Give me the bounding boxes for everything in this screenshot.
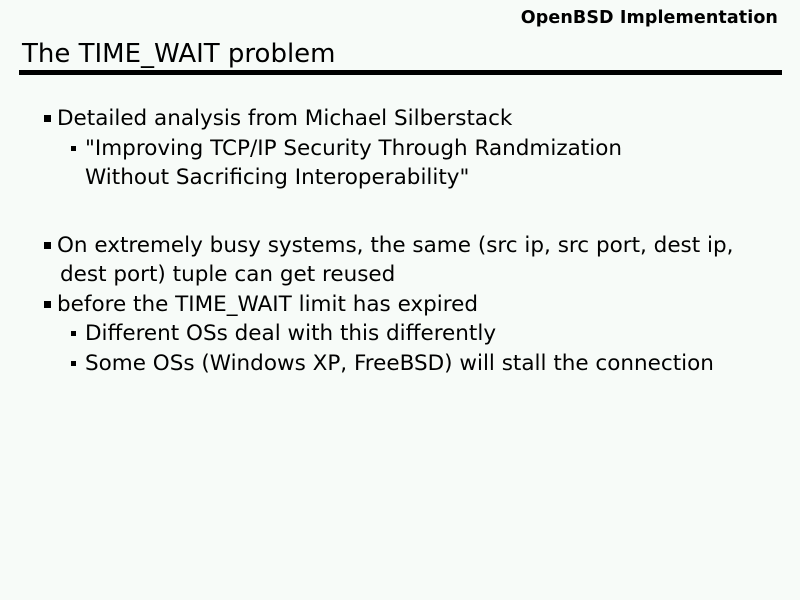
slide-body: Detailed analysis from Michael Silbersta… (0, 104, 800, 378)
list-item-label: before the TIME_WAIT limit has expired (60, 290, 760, 320)
bullet-group-two: On extremely busy systems, the same (src… (0, 231, 800, 379)
square-bullet-icon (44, 301, 51, 308)
bullet-group-one: Detailed analysis from Michael Silbersta… (0, 104, 800, 193)
list-item-label: Different OSs deal with this differently (85, 319, 785, 349)
list-item: Different OSs deal with this differently (0, 319, 785, 349)
square-bullet-icon (44, 242, 51, 249)
title-divider-rule (19, 70, 782, 75)
small-square-bullet-icon (71, 146, 76, 151)
small-square-bullet-icon (71, 361, 76, 366)
list-item: On extremely busy systems, the same (src… (0, 231, 760, 290)
small-square-bullet-icon (71, 331, 76, 336)
list-item-label: Detailed analysis from Michael Silbersta… (60, 104, 760, 134)
bullet-group-spacer (0, 193, 800, 231)
slide-header-label: OpenBSD Implementation (0, 7, 778, 29)
list-item-label: Some OSs (Windows XP, FreeBSD) will stal… (85, 349, 785, 379)
square-bullet-icon (44, 115, 51, 122)
list-item: before the TIME_WAIT limit has expired (0, 290, 760, 320)
list-item-label: "Improving TCP/IP Security Through Randm… (85, 134, 710, 193)
list-item: "Improving TCP/IP Security Through Randm… (0, 134, 710, 193)
slide-title: The TIME_WAIT problem (22, 39, 336, 69)
list-item-label: On extremely busy systems, the same (src… (60, 231, 760, 290)
list-item: Detailed analysis from Michael Silbersta… (0, 104, 760, 134)
list-item: Some OSs (Windows XP, FreeBSD) will stal… (0, 349, 785, 379)
presentation-slide: OpenBSD Implementation The TIME_WAIT pro… (0, 0, 800, 600)
